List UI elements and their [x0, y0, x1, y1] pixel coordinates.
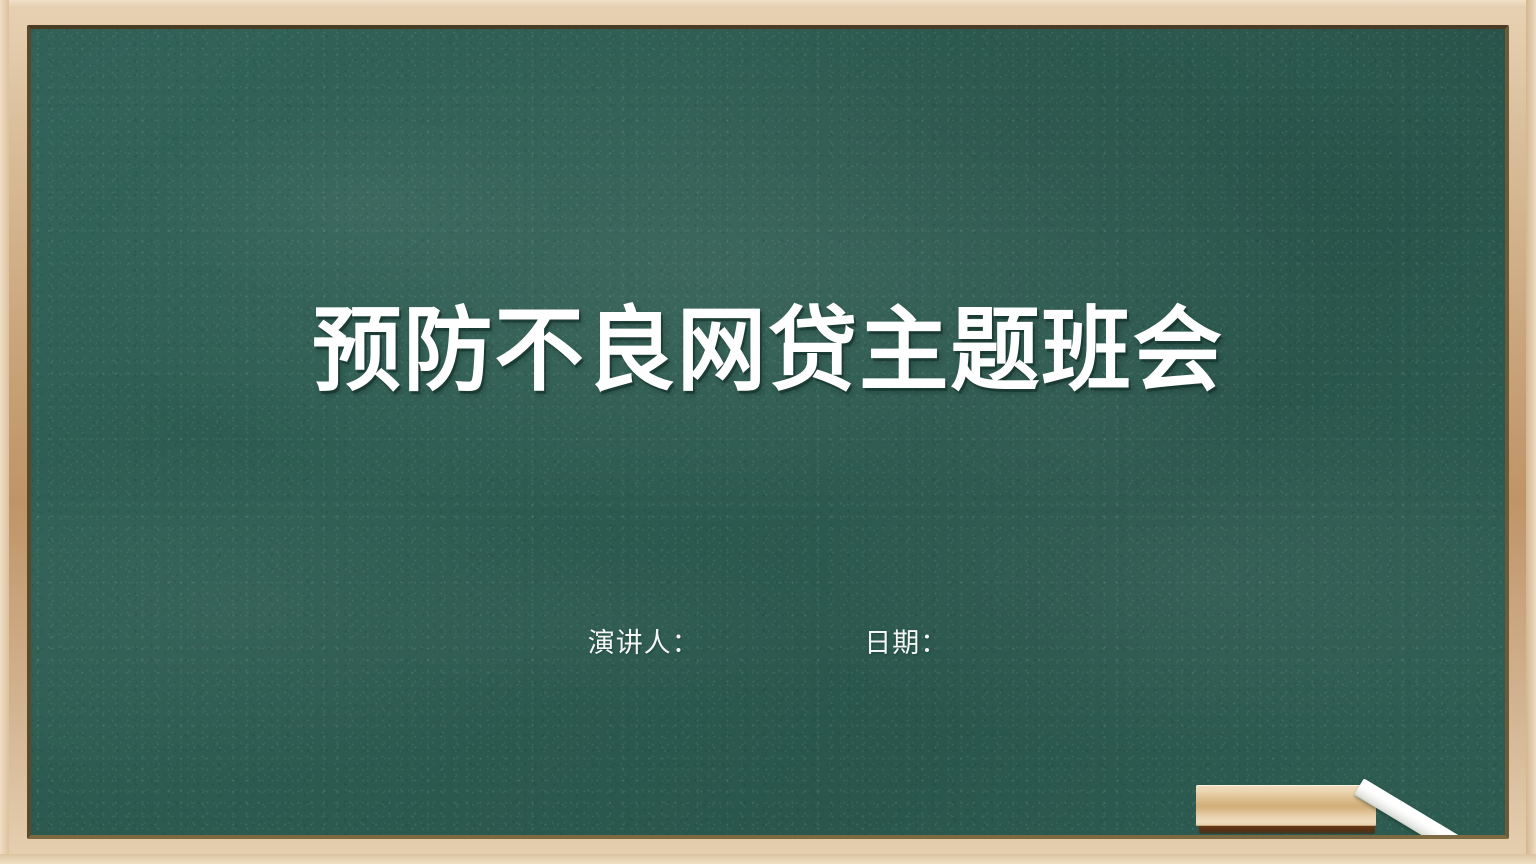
chalkboard-wash: [31, 29, 1505, 835]
blackboard-eraser-icon: [1196, 785, 1376, 826]
chalkboard-surface: 预防不良网贷主题班会 演讲人： 日期：: [31, 29, 1505, 835]
chalk-stick-icon: [1354, 778, 1497, 835]
title-slide: 预防不良网贷主题班会 演讲人： 日期：: [0, 0, 1536, 864]
frame-bevel-left: [0, 0, 9, 864]
frame-bevel-top: [0, 0, 1536, 8]
chalkboard-grain: [31, 29, 1505, 835]
date-label: 日期：: [864, 621, 948, 660]
page-title: 预防不良网贷主题班会: [31, 301, 1505, 400]
title-text: 预防不良网贷主题班会: [312, 301, 1224, 400]
speaker-label: 演讲人：: [588, 621, 700, 660]
byline: 演讲人： 日期：: [31, 621, 1505, 660]
frame-bevel-bottom: [0, 854, 1536, 864]
frame-bevel-right: [1526, 0, 1536, 864]
